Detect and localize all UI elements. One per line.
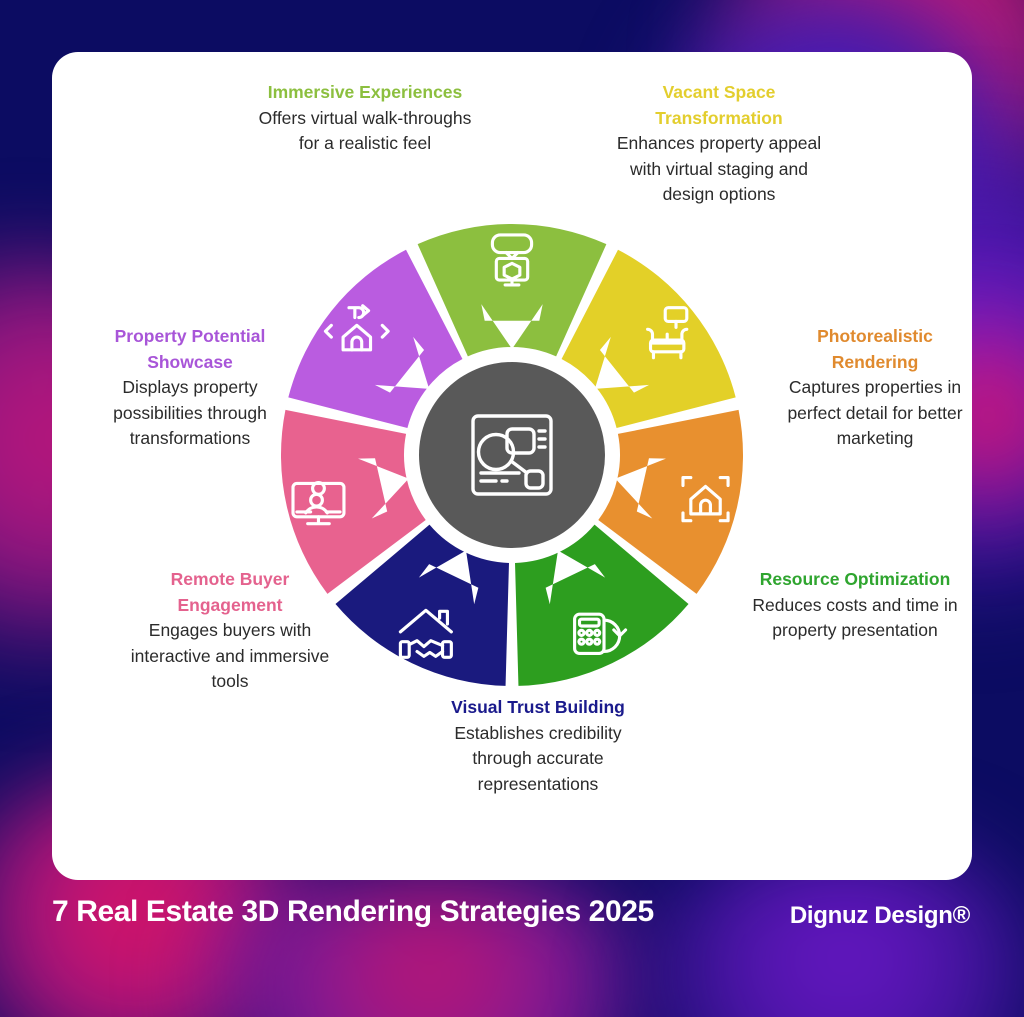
callout-visual-trust-building: Visual Trust Building Establishes credib… (424, 695, 652, 797)
callout-vacant-space-transformation: Vacant Space Transformation Enhances pro… (608, 80, 830, 208)
content-card: Immersive Experiences Offers virtual wal… (52, 52, 972, 880)
callout-immersive-experiences: Immersive Experiences Offers virtual wal… (248, 80, 482, 157)
callout-property-potential-showcase: Property Potential Showcase Displays pro… (76, 324, 304, 452)
footer-banner: 7 Real Estate 3D Rendering Strategies 20… (0, 880, 1024, 1017)
callout-title-property: Property Potential Showcase (76, 324, 304, 375)
callout-title-photorealistic: Photorealistic Rendering (772, 324, 972, 375)
brand-logo-text: Dignuz Design® (790, 902, 970, 930)
strategy-wheel-diagram (281, 224, 743, 686)
callout-title-resource: Resource Optimization (752, 567, 958, 593)
callout-body-photorealistic: Captures properties in perfect detail fo… (787, 377, 962, 448)
callout-title-visualtrust: Visual Trust Building (424, 695, 652, 721)
infographic-canvas: Immersive Experiences Offers virtual wal… (0, 0, 1024, 1017)
callout-body-vacant: Enhances property appeal with virtual st… (617, 133, 821, 204)
callout-body-property: Displays property possibilities through … (113, 377, 267, 448)
callout-body-visualtrust: Establishes credibility through accurate… (454, 723, 621, 794)
callout-body-resource: Reduces costs and time in property prese… (752, 595, 957, 641)
callout-title-vacant: Vacant Space Transformation (608, 80, 830, 131)
callout-body-immersive: Offers virtual walk-throughs for a reali… (259, 108, 472, 154)
callout-title-immersive: Immersive Experiences (248, 80, 482, 106)
page-title: 7 Real Estate 3D Rendering Strategies 20… (52, 890, 692, 934)
callout-resource-optimization: Resource Optimization Reduces costs and … (752, 567, 958, 644)
callout-photorealistic-rendering: Photorealistic Rendering Captures proper… (772, 324, 972, 452)
